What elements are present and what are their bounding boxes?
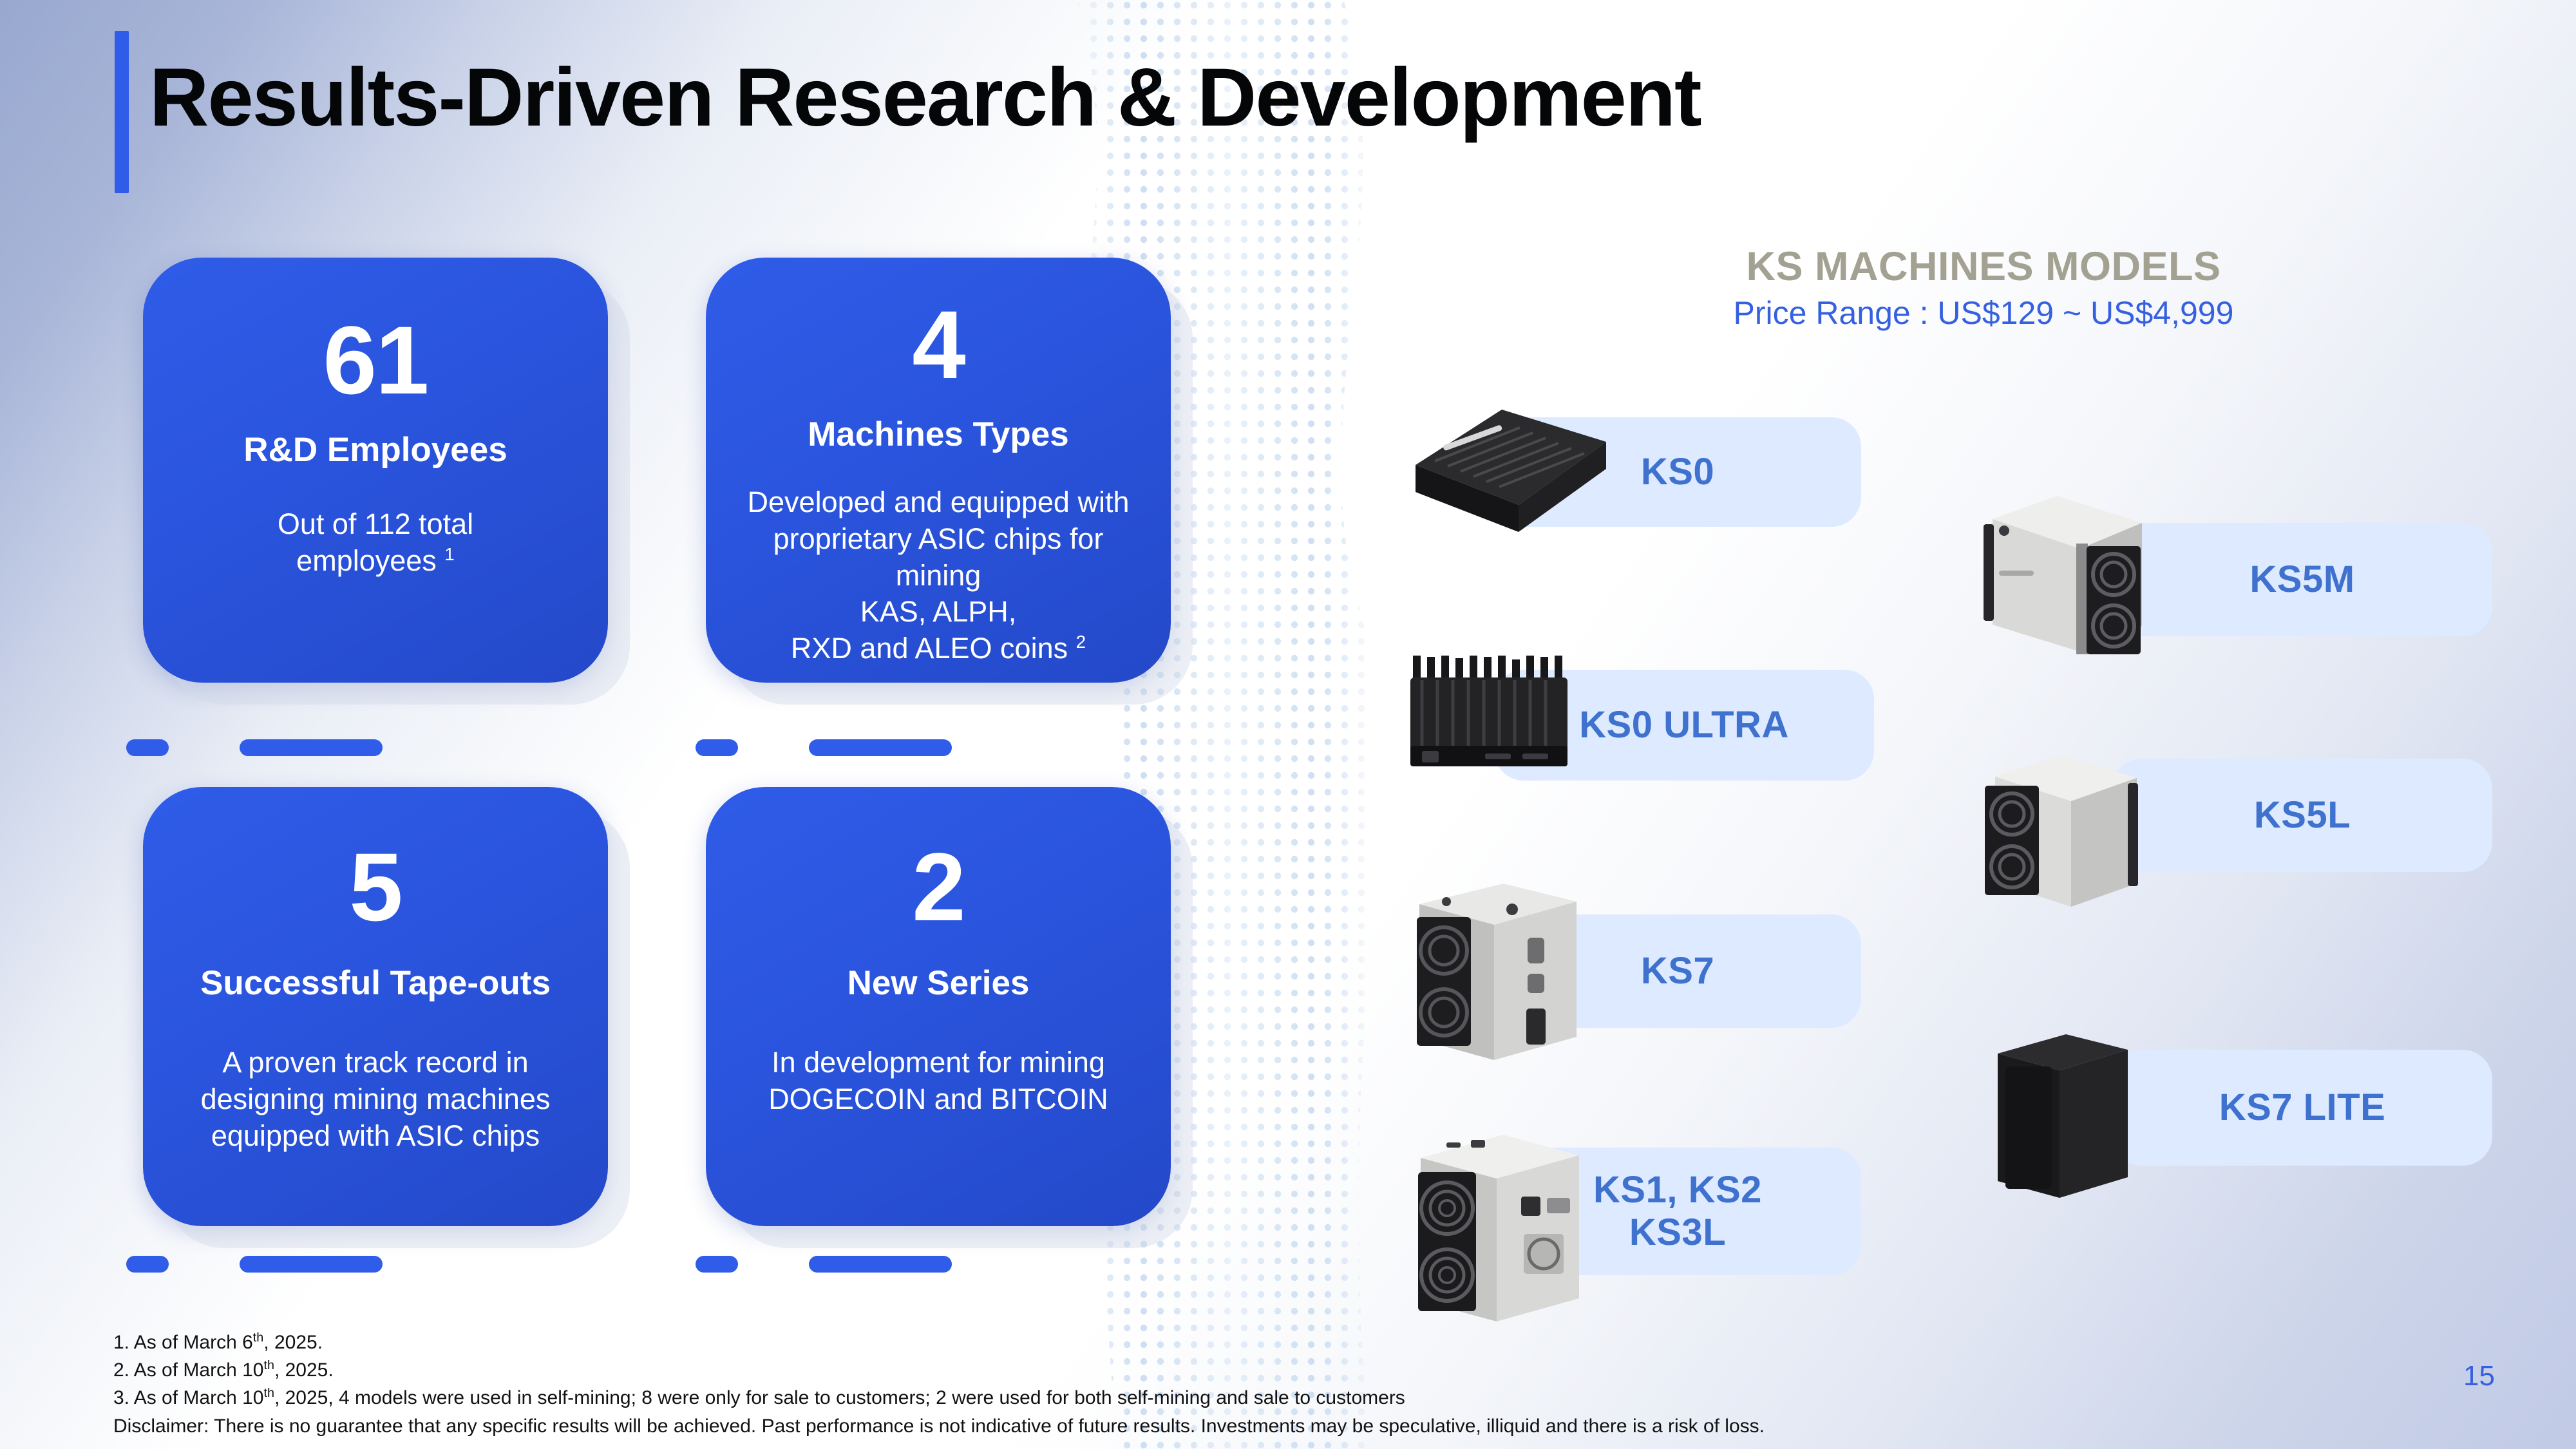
footnote-ref: 1 [444,544,455,564]
stat-label: Machines Types [808,416,1069,453]
machine-image-ks5l [1964,741,2164,931]
model-label: KS7 LITE [2219,1086,2386,1129]
machine-image-ks7 [1397,869,1591,1079]
machine-image-ks5m [1964,477,2177,686]
desc-line-3: equipped with ASIC chips [211,1119,540,1152]
footnote-3-pre: 3. As of March 10 [113,1387,263,1408]
stat-number: 4 [912,296,964,393]
page-number: 15 [2463,1360,2495,1392]
model-pill-ks5l[interactable]: KS5L [2112,759,2492,872]
card-dash-long [240,1256,383,1273]
stat-label: Successful Tape-outs [200,965,551,1002]
machine-image-ks7-lite [1977,1016,2157,1213]
stat-number: 61 [323,312,428,408]
footnote-1-pre: 1. As of March 6 [113,1332,253,1353]
footnote-1-post: , 2025. [263,1332,323,1353]
slide-canvas: Results-Driven Research & Development 61… [0,0,2576,1449]
desc-line-4: RXD and ALEO coins [791,632,1076,665]
model-label: KS0 [1641,451,1714,493]
desc-line-2: designing mining machines [201,1083,551,1115]
desc-line-2: employees [296,544,444,577]
stat-description: A proven track record in designing minin… [201,1045,551,1154]
model-label: KS7 [1641,950,1714,992]
disclaimer: Disclaimer: There is no guarantee that a… [113,1412,1765,1440]
footnote-3-sup: th [263,1386,274,1400]
footnote-3-post: , 2025, 4 models were used in self-minin… [274,1387,1405,1408]
card-dash-short [126,1256,169,1273]
model-label: KS5M [2249,558,2354,601]
footnotes: 1. As of March 6th, 2025. 2. As of March… [113,1329,1765,1440]
card-dash-long [809,739,952,756]
dotted-wave-background [0,0,2576,1449]
model-label: KS5L [2254,794,2351,837]
machine-image-ks0 [1397,394,1616,552]
model-label: KS1, KS2 KS3L [1593,1169,1762,1254]
footnote-2: 2. As of March 10th, 2025. [113,1356,1765,1384]
footnote-1: 1. As of March 6th, 2025. [113,1329,1765,1356]
footnote-2-sup: th [263,1358,274,1372]
models-heading: KS MACHINES MODELS Price Range : US$129 … [1391,245,2576,332]
stat-description: In development for mining DOGECOIN and B… [768,1045,1108,1117]
models-title: KS MACHINES MODELS [1391,245,2576,289]
desc-line-1: A proven track record in [222,1046,528,1079]
card-dash-short [696,1256,738,1273]
footnote-1-sup: th [253,1331,264,1345]
machine-image-ks1-ks2-ks3l [1397,1121,1597,1336]
desc-line-3: KAS, ALPH, [860,595,1017,628]
footnote-2-post: , 2025. [274,1359,334,1381]
card-dash-short [696,739,738,756]
stat-description: Developed and equipped with proprietary … [734,484,1142,667]
model-pill-ks7-lite[interactable]: KS7 LITE [2112,1050,2492,1166]
card-dash-long [240,739,383,756]
desc-line-1: In development for mining [772,1046,1105,1079]
desc-line-1: Out of 112 total [278,507,473,540]
stat-label: New Series [848,965,1030,1002]
models-price-range: Price Range : US$129 ~ US$4,999 [1391,294,2576,332]
stat-card-new-series[interactable]: 2 New Series In development for mining D… [706,787,1171,1226]
desc-line-1: Developed and equipped with [748,486,1130,518]
stat-description: Out of 112 total employees 1 [278,506,473,579]
title-accent-bar [115,31,129,193]
stat-card-successful-tapeouts[interactable]: 5 Successful Tape-outs A proven track re… [143,787,608,1226]
page-title: Results-Driven Research & Development [149,50,1701,145]
stat-card-rd-employees[interactable]: 61 R&D Employees Out of 112 total employ… [143,258,608,683]
footnote-3: 3. As of March 10th, 2025, 4 models were… [113,1384,1765,1412]
model-label: KS0 ULTRA [1579,704,1789,746]
card-dash-long [809,1256,952,1273]
desc-line-2: proprietary ASIC chips for mining [773,522,1104,592]
footnote-ref: 2 [1076,632,1086,652]
stat-number: 5 [349,838,401,935]
stat-number: 2 [912,838,964,935]
desc-line-2: DOGECOIN and BITCOIN [768,1083,1108,1115]
stat-label: R&D Employees [243,431,507,469]
stat-card-machines-types[interactable]: 4 Machines Types Developed and equipped … [706,258,1171,683]
footnote-2-pre: 2. As of March 10 [113,1359,263,1381]
machine-image-ks0-ultra [1397,649,1597,788]
card-dash-short [126,739,169,756]
